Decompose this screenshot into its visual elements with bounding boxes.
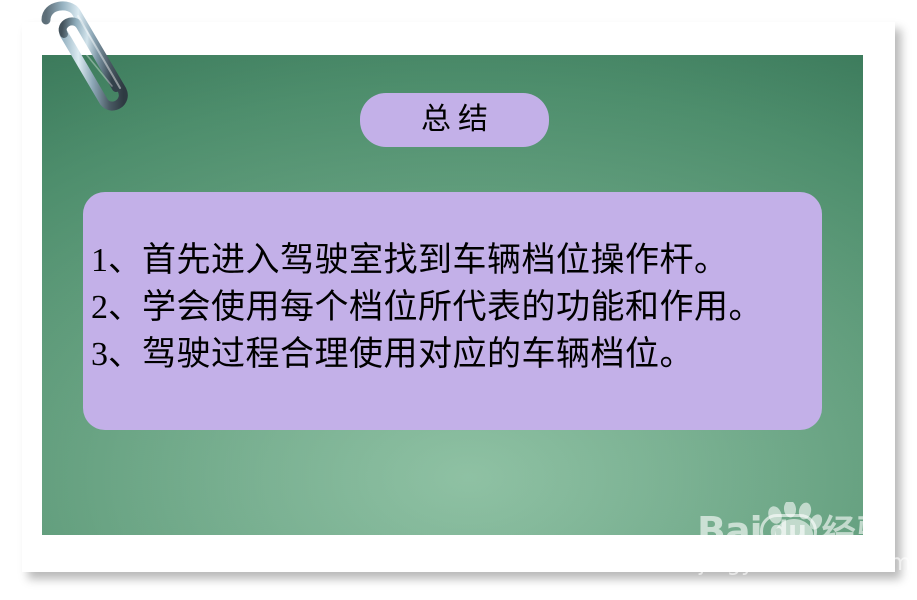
list-item: 1、首先进入驾驶室找到车辆档位操作杆。 (91, 237, 814, 284)
slide-title-box: 总结 (360, 93, 549, 147)
list-item-text: 首先进入驾驶室找到车辆档位操作杆。 (142, 242, 729, 279)
list-item-marker: 3、 (91, 336, 142, 373)
list-item-text: 驾驶过程合理使用对应的车辆档位。 (142, 336, 694, 373)
list-item-marker: 1、 (91, 242, 142, 279)
slide-title-text: 总结 (414, 105, 495, 135)
presentation-slide: 总结 1、首先进入驾驶室找到车辆档位操作杆。 2、学会使用每个档位所代表的功能和… (42, 55, 863, 535)
summary-list: 1、首先进入驾驶室找到车辆档位操作杆。 2、学会使用每个档位所代表的功能和作用。… (91, 237, 814, 378)
list-item-text: 学会使用每个档位所代表的功能和作用。 (142, 289, 763, 326)
list-item: 3、驾驶过程合理使用对应的车辆档位。 (91, 331, 814, 378)
slide-content-box: 1、首先进入驾驶室找到车辆档位操作杆。 2、学会使用每个档位所代表的功能和作用。… (83, 192, 822, 430)
list-item-marker: 2、 (91, 289, 142, 326)
list-item: 2、学会使用每个档位所代表的功能和作用。 (91, 284, 814, 331)
